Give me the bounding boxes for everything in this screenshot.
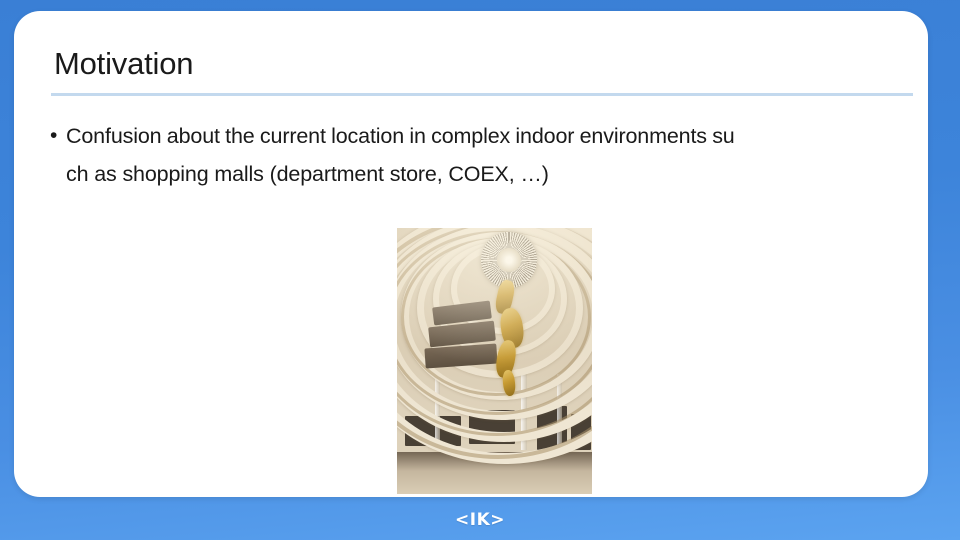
bullet-marker-icon: • (50, 117, 66, 155)
slide-root: Motivation • Confusion about the current… (0, 0, 960, 540)
body-content: • Confusion about the current location i… (50, 117, 912, 193)
bullet-text-line-2: ch as shopping malls (department store, … (50, 155, 912, 193)
bullet-text-line-1: Confusion about the current location in … (66, 117, 912, 155)
slide-content-card: Motivation • Confusion about the current… (14, 11, 928, 497)
photo-skylight-core (497, 248, 521, 272)
mall-atrium-photo (397, 228, 592, 494)
title-divider (51, 93, 913, 96)
page-title: Motivation (54, 47, 193, 81)
photo-inner (397, 228, 592, 494)
footer-logo: <IK> (0, 510, 960, 530)
bullet-item: • Confusion about the current location i… (50, 117, 912, 155)
